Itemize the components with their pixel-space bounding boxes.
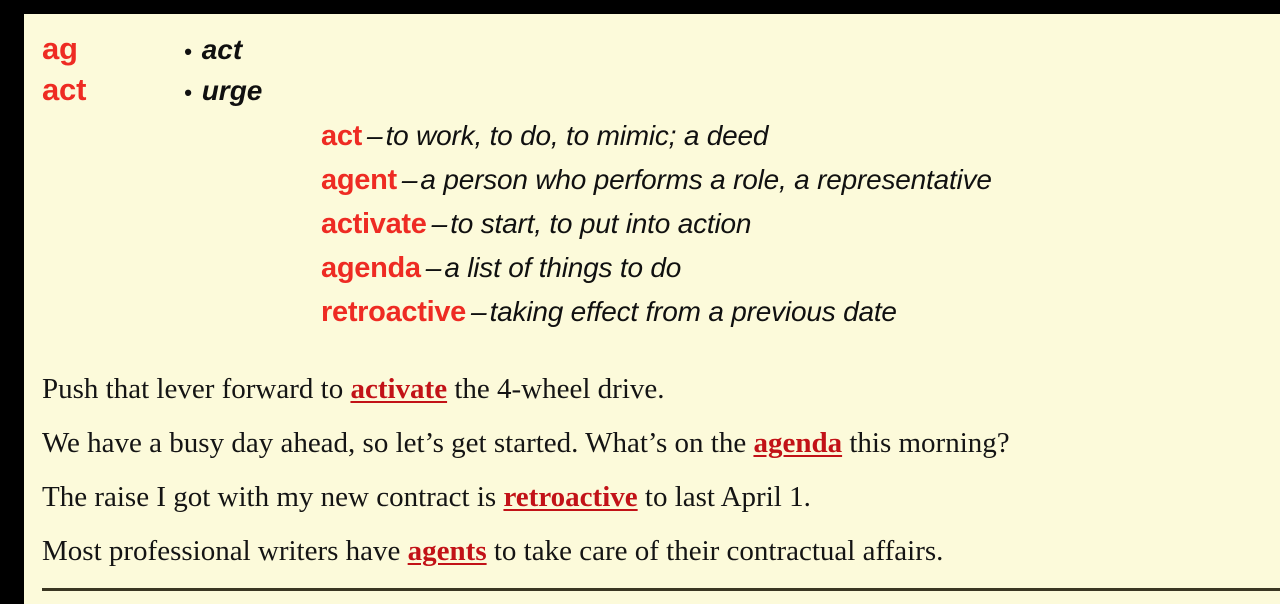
definition-term: activate (321, 208, 427, 240)
example-sentence: The raise I got with my new contract is … (42, 470, 1272, 524)
definition-list: act–to work, to do, to mimic; a deed age… (321, 114, 1271, 334)
definition-term: act (321, 120, 362, 152)
horizontal-divider (42, 588, 1280, 591)
definition-dash: – (421, 252, 445, 283)
definition-gloss: to start, to put into action (450, 208, 751, 239)
definition-dash: – (427, 208, 451, 239)
definition-term: retroactive (321, 296, 466, 328)
definition-gloss: a list of things to do (444, 252, 681, 283)
root-meaning: • urge (184, 72, 262, 112)
sentence-text-before: We have a busy day ahead, so let’s get s… (42, 427, 753, 459)
list-item: act–to work, to do, to mimic; a deed (321, 114, 1271, 158)
example-sentence: We have a busy day ahead, so let’s get s… (42, 416, 1272, 470)
list-item: retroactive–taking effect from a previou… (321, 290, 1271, 334)
list-item: agent–a person who performs a role, a re… (321, 158, 1271, 202)
root-meaning-label: urge (202, 72, 263, 110)
definition-dash: – (397, 164, 421, 195)
vocabulary-word: activate (350, 373, 447, 405)
root-meaning-label: act (202, 31, 242, 69)
list-item: activate–to start, to put into action (321, 202, 1271, 246)
vocabulary-word: retroactive (503, 481, 637, 513)
sentence-text-before: Most professional writers have (42, 535, 408, 567)
definition-term: agenda (321, 252, 421, 284)
example-sentence: Push that lever forward to activate the … (42, 362, 1272, 416)
sentence-text-after: the 4-wheel drive. (447, 373, 664, 405)
definition-gloss: a person who performs a role, a represen… (420, 164, 991, 195)
sentence-text-after: this morning? (842, 427, 1010, 459)
definition-gloss: to work, to do, to mimic; a deed (386, 120, 769, 151)
table-row: ag • act (42, 30, 342, 71)
definition-dash: – (466, 296, 490, 327)
slide-canvas: ag • act act • urge act–to work, to do, … (24, 14, 1280, 604)
definition-term: agent (321, 164, 397, 196)
definition-dash: – (362, 120, 386, 151)
table-row: act • urge (42, 71, 342, 112)
example-sentence: Most professional writers have agents to… (42, 524, 1272, 578)
root-word: ag (42, 30, 184, 68)
vocabulary-word: agents (408, 535, 487, 567)
list-item: agenda–a list of things to do (321, 246, 1271, 290)
root-word: act (42, 71, 184, 109)
root-meaning-table: ag • act act • urge (42, 30, 342, 112)
bullet-icon: • (184, 33, 192, 71)
sentence-text-after: to last April 1. (638, 481, 811, 513)
sentence-text-before: Push that lever forward to (42, 373, 350, 405)
definition-gloss: taking effect from a previous date (490, 296, 897, 327)
sentence-text-before: The raise I got with my new contract is (42, 481, 503, 513)
root-meaning: • act (184, 31, 242, 71)
slide-frame: ag • act act • urge act–to work, to do, … (0, 0, 1280, 604)
example-sentence-list: Push that lever forward to activate the … (42, 362, 1272, 578)
bullet-icon: • (184, 74, 192, 112)
vocabulary-word: agenda (753, 427, 842, 459)
sentence-text-after: to take care of their contractual affair… (487, 535, 944, 567)
